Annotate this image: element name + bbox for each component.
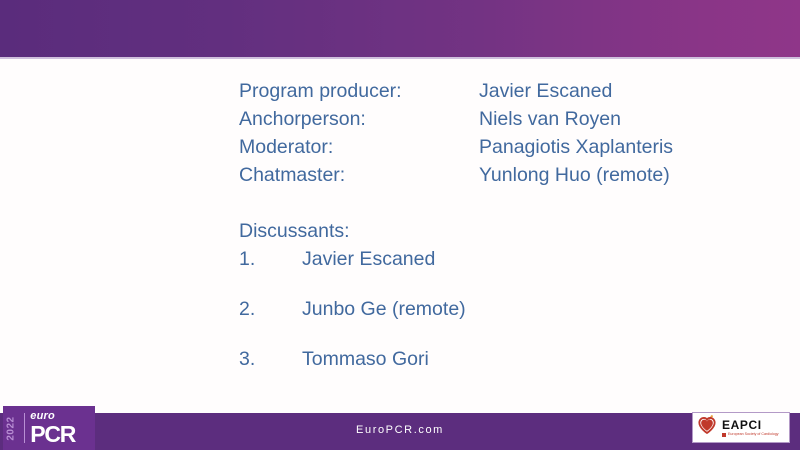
discussant-number: 1.: [239, 245, 302, 295]
table-row: Moderator: Panagiotis Xaplanteris: [239, 133, 673, 161]
list-item: 2. Junbo Ge (remote): [239, 295, 466, 345]
discussant-name: Tommaso Gori: [302, 345, 466, 395]
table-row: Anchorperson: Niels van Royen: [239, 105, 673, 133]
discussants-list: 1. Javier Escaned 2. Junbo Ge (remote) 3…: [239, 245, 466, 395]
discussant-number: 3.: [239, 345, 302, 395]
slide-content: Program producer: Javier Escaned Anchorp…: [0, 57, 800, 413]
header-banner: [0, 0, 800, 57]
credit-person-name: Yunlong Huo (remote): [479, 161, 673, 189]
eapci-square-icon: [722, 433, 726, 437]
discussant-name: Junbo Ge (remote): [302, 295, 466, 345]
eapci-text-block: EAPCI European Society of Cardiology: [722, 419, 779, 437]
credit-person-name: Panagiotis Xaplanteris: [479, 133, 673, 161]
eapci-subtitle-label: European Society of Cardiology: [728, 433, 779, 437]
eapci-logo: EAPCI European Society of Cardiology: [692, 412, 790, 443]
table-row: Chatmaster: Yunlong Huo (remote): [239, 161, 673, 189]
credit-role-label: Anchorperson:: [239, 105, 479, 133]
credit-role-label: Program producer:: [239, 77, 479, 105]
credit-role-label: Chatmaster:: [239, 161, 479, 189]
logo-euro-text: euro: [30, 411, 75, 422]
logo-wordmark: euro PCR: [30, 411, 75, 446]
footer-website-label: EuroPCR.com: [0, 424, 800, 436]
credit-person-name: Javier Escaned: [479, 77, 673, 105]
credit-role-label: Moderator:: [239, 133, 479, 161]
list-item: 1. Javier Escaned: [239, 245, 466, 295]
logo-pcr-text: PCR: [30, 423, 75, 446]
discussants-heading: Discussants:: [239, 217, 350, 245]
heart-icon: [697, 415, 717, 440]
eapci-subtitle: European Society of Cardiology: [722, 433, 779, 437]
credits-table: Program producer: Javier Escaned Anchorp…: [239, 77, 673, 189]
list-item: 3. Tommaso Gori: [239, 345, 466, 395]
discussant-number: 2.: [239, 295, 302, 345]
credit-person-name: Niels van Royen: [479, 105, 673, 133]
europcr-logo: 2022 euro PCR: [3, 406, 95, 450]
logo-divider: [24, 413, 25, 443]
eapci-name-label: EAPCI: [722, 419, 779, 431]
logo-year-label: 2022: [6, 416, 17, 440]
table-row: Program producer: Javier Escaned: [239, 77, 673, 105]
discussant-name: Javier Escaned: [302, 245, 466, 295]
